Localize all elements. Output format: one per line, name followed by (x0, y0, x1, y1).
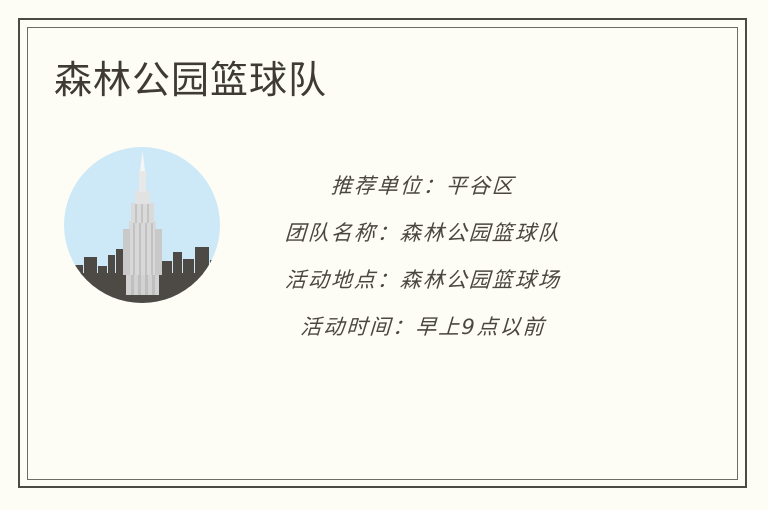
info-card: 森林公园篮球队 (0, 0, 768, 510)
info-line-activity-location: 活动地点：森林公园篮球场 (227, 257, 619, 304)
city-skyline-tower-icon (63, 147, 221, 303)
info-list: 推荐单位：平谷区 团队名称：森林公园篮球队 活动地点：森林公园篮球场 活动时间：… (228, 163, 618, 351)
info-line-team-name: 团队名称：森林公园篮球队 (227, 210, 619, 257)
info-line-recommending-unit: 推荐单位：平谷区 (227, 163, 619, 210)
info-line-activity-time: 活动时间：早上9点以前 (227, 304, 619, 351)
page-title: 森林公园篮球队 (54, 56, 327, 106)
